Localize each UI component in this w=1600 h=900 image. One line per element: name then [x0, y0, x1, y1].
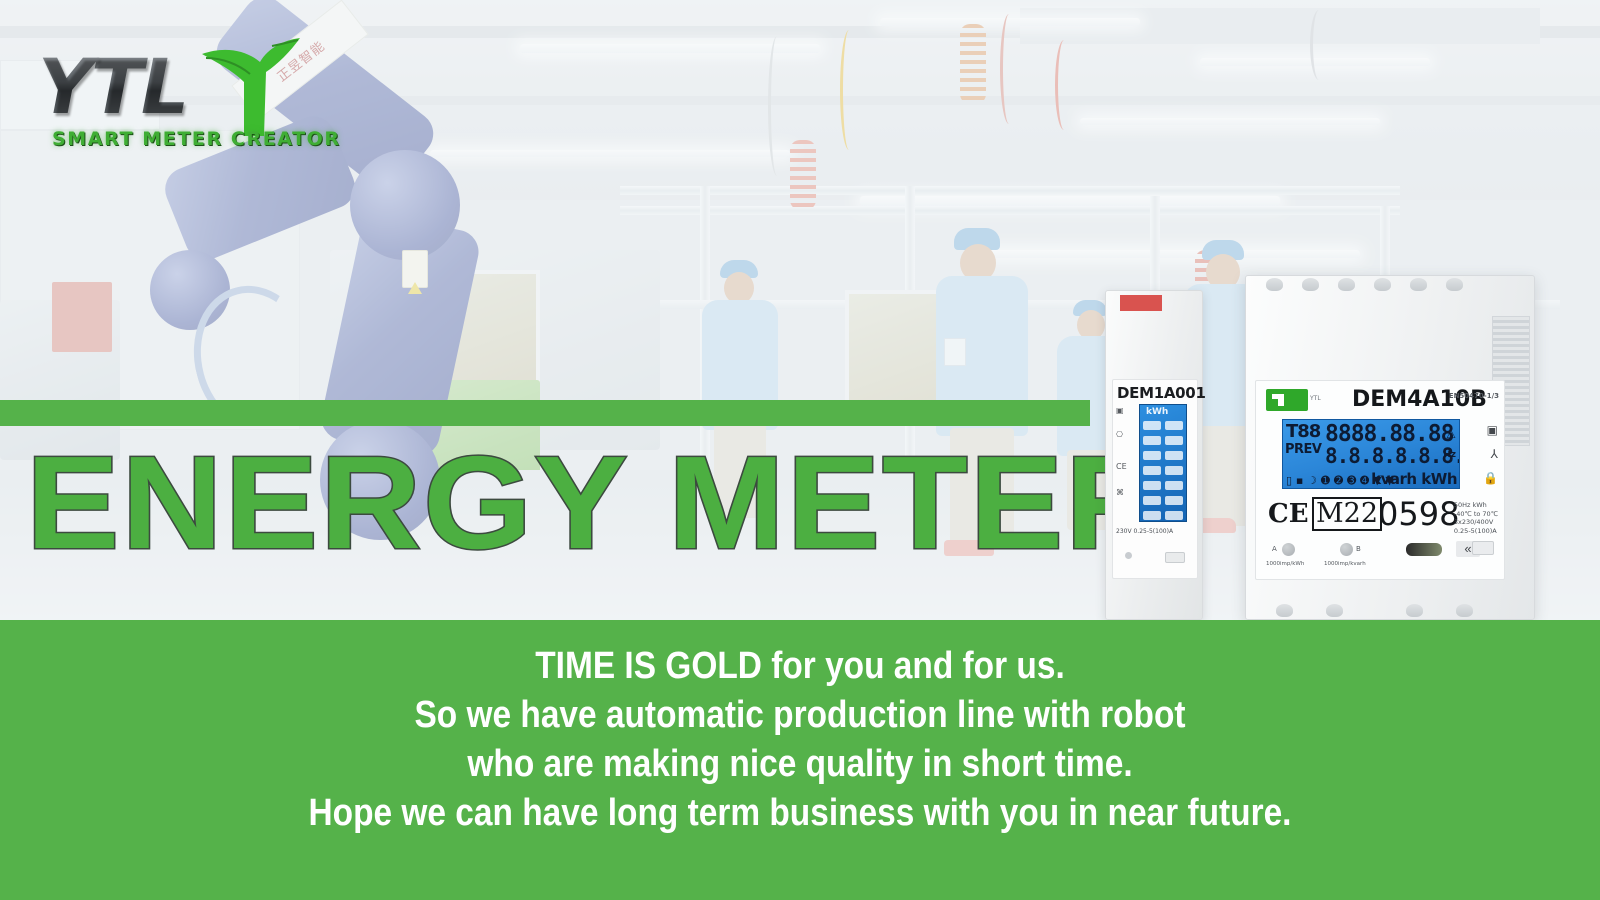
spec-line: 0.25-5(100)A — [1454, 527, 1498, 536]
meter-spec-block: 50Hz kWh -40℃ to 70℃ 3x230/400V 0.25-5(1… — [1454, 501, 1498, 535]
notified-body-number: 0598 — [1378, 495, 1459, 533]
meter-icon: ⎔ — [1116, 430, 1123, 439]
ce-icon: CE — [1116, 462, 1127, 471]
meter-faceplate: YTL DEM4A10B EN50470-1/3 T88 PREV 8888.8… — [1255, 380, 1505, 580]
spec-line: 3x230/400V — [1454, 518, 1498, 527]
lcd-hz-label: Hz — [1443, 450, 1456, 460]
spec-line: -40℃ to 70℃ — [1454, 510, 1498, 519]
display-icon: ▣ — [1116, 406, 1124, 415]
product-meter-single-phase[interactable]: DEM1A001 kWh ▣ ⎔ CE ⌘ 230V 0.25-5(100)A — [1105, 290, 1203, 620]
lcd-units-label: kvarh kWh — [1371, 470, 1457, 488]
meter-brand-text: YTL — [1310, 395, 1321, 402]
product-meter-three-phase[interactable]: YTL DEM4A10B EN50470-1/3 T88 PREV 8888.8… — [1245, 275, 1535, 620]
meter-lcd-display: kWh — [1139, 404, 1187, 522]
led-a-label: 1000imp/kWh — [1266, 561, 1304, 567]
logo-wordmark: YTL — [38, 42, 187, 131]
ce-mark: CE — [1268, 499, 1309, 529]
three-phase-icon: ⅄ — [1491, 447, 1498, 461]
meter-standard-label: EN50470-1/3 — [1449, 392, 1499, 400]
meter-spec-label: 230V 0.25-5(100)A — [1116, 528, 1173, 535]
message-line: who are making nice quality in short tim… — [96, 740, 1504, 789]
lcd-warning-icon: ⚠ — [1446, 428, 1456, 441]
message-lines: TIME IS GOLD for you and for us. So we h… — [0, 642, 1600, 838]
led-a-letter: A — [1272, 545, 1277, 553]
led-b-label: 1000imp/kvarh — [1324, 561, 1366, 567]
lock-icon: 🔒 — [1483, 471, 1498, 485]
spec-line: 50Hz kWh — [1454, 501, 1498, 510]
marketing-banner: 正昱智能 — [0, 0, 1600, 900]
led-b-letter: B — [1356, 545, 1361, 553]
bird-icon — [1266, 389, 1308, 411]
meter-top-seal — [1120, 295, 1162, 311]
meter-lcd-unit: kWh — [1146, 407, 1168, 417]
meter-model-label: DEM1A001 — [1117, 384, 1206, 402]
certification-icon: ⌘ — [1116, 488, 1124, 497]
meter-lcd-display: T88 PREV 8888.88.88 8.8.8.8.8.8.8.8 ⚠ Hz… — [1282, 419, 1460, 489]
message-line: Hope we can have long term business with… — [96, 789, 1504, 838]
meter-brand-logo — [1266, 389, 1308, 411]
message-line: TIME IS GOLD for you and for us. — [96, 642, 1504, 691]
company-logo[interactable]: YTL SMART METER CREATOR — [34, 36, 304, 156]
logo-tagline: SMART METER CREATOR — [52, 128, 341, 150]
led-a-indicator — [1282, 543, 1295, 556]
meter-infrared-port — [1406, 543, 1442, 556]
meter-optical-port — [1165, 552, 1185, 563]
message-panel: TIME IS GOLD for you and for us. So we h… — [0, 620, 1600, 900]
display-icon: ▣ — [1487, 423, 1498, 437]
page-title: ENERGY METER — [26, 437, 1168, 569]
m-mark: M22 — [1312, 497, 1382, 531]
bird-icon — [194, 36, 304, 140]
meter-optical-port — [1472, 541, 1494, 555]
message-line: So we have automatic production line wit… — [96, 691, 1504, 740]
lcd-digits-row2: 8.8.8.8.8.8.8.8 — [1325, 444, 1460, 468]
lcd-tariff: T88 — [1286, 421, 1320, 442]
led-b-indicator — [1340, 543, 1353, 556]
meter-faceplate: DEM1A001 kWh ▣ ⎔ CE ⌘ 230V 0.25-5(100)A — [1112, 379, 1198, 579]
meter-led-indicator — [1125, 552, 1132, 559]
green-accent-bar — [0, 400, 1090, 426]
lcd-prev-label: PREV — [1285, 442, 1321, 457]
